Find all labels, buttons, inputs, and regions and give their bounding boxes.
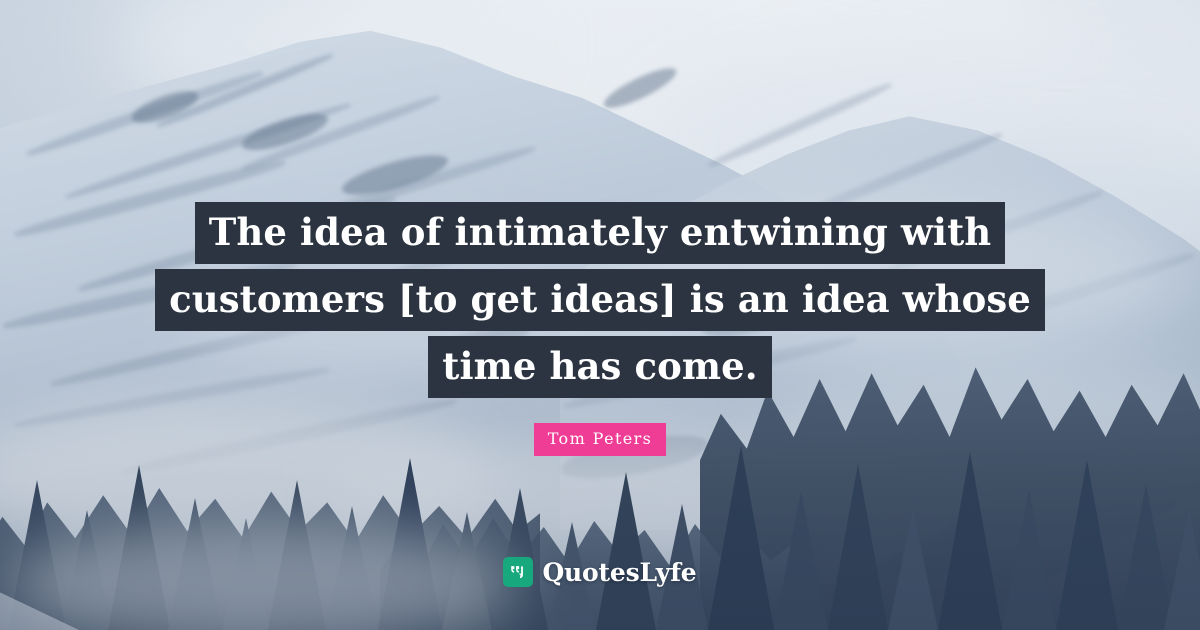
quote-card: The idea of intimately entwining with cu… — [0, 0, 1200, 630]
quote-text: The idea of intimately entwining with cu… — [0, 202, 1200, 398]
author-name-badge: Tom Peters — [534, 423, 667, 456]
quote-line-text: customers [to get ideas] is an idea whos… — [155, 269, 1045, 331]
brand-footer: QuotesLyfe — [0, 557, 1200, 587]
quote-line-text: The idea of intimately entwining with — [195, 202, 1006, 264]
card-content: The idea of intimately entwining with cu… — [0, 0, 1200, 630]
brand-logo[interactable]: QuotesLyfe — [503, 557, 696, 587]
quote-line: time has come. — [0, 336, 1200, 398]
author-attribution: Tom Peters — [0, 423, 1200, 456]
quote-line: The idea of intimately entwining with — [0, 202, 1200, 264]
quotation-mark-icon — [503, 557, 533, 587]
quote-line: customers [to get ideas] is an idea whos… — [0, 269, 1200, 331]
quote-line-text: time has come. — [428, 336, 771, 398]
brand-name: QuotesLyfe — [542, 560, 696, 585]
